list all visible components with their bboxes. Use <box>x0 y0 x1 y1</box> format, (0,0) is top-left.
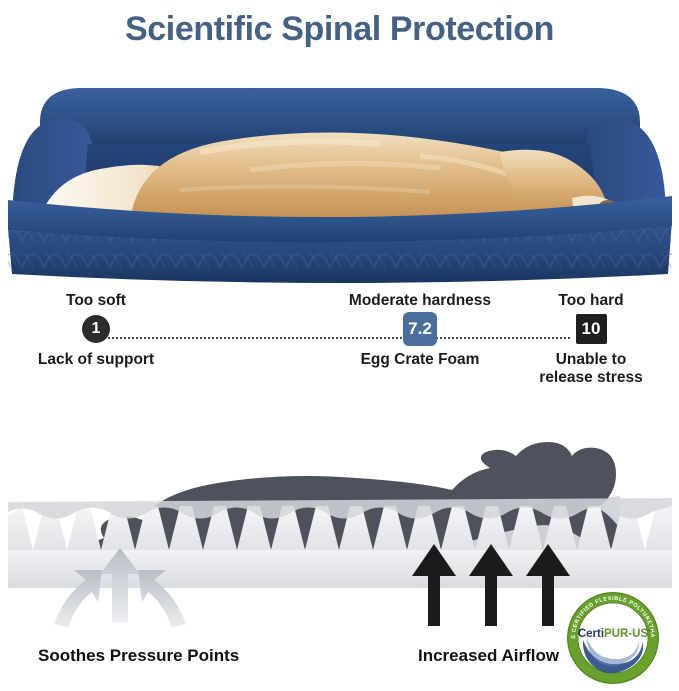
scale-stop-too-hard-bottom-line2: release stress <box>505 369 677 387</box>
scale-stop-too-hard-bottom-line1: Unable to <box>505 351 677 369</box>
svg-text:CertiPUR-US: CertiPUR-US <box>578 628 649 640</box>
caption-increased-airflow: Increased Airflow <box>418 646 559 666</box>
scale-marker-7-2: 7.2 <box>403 312 437 346</box>
hero-product-photo <box>0 60 679 290</box>
scale-stop-too-soft-top-label: Too soft <box>6 292 186 310</box>
caption-soothes-pressure-points: Soothes Pressure Points <box>38 646 239 666</box>
scale-marker-10: 10 <box>576 314 607 344</box>
badge-center-text-certi: Certi <box>578 628 604 640</box>
scale-stop-too-hard-top-label: Too hard <box>505 292 677 310</box>
page-title: Scientific Spinal Protection <box>125 10 554 49</box>
certipur-us-badge: CONTAINS CERTIFIED FLEXIBLE POLYURETHANE… <box>563 588 663 688</box>
dog-bed-illustration <box>0 60 679 290</box>
certipur-us-seal-icon: CONTAINS CERTIFIED FLEXIBLE POLYURETHANE… <box>563 588 663 688</box>
scale-stop-too-soft-marker-row: 1 <box>6 312 186 346</box>
infographic-page: Scientific Spinal Protection <box>0 0 679 691</box>
scale-stop-moderate-top-label: Moderate hardness <box>325 292 515 310</box>
scale-stop-too-soft: Too soft 1 Lack of support <box>6 292 186 369</box>
scale-stop-moderate-marker-row: 7.2 <box>325 312 515 346</box>
scale-stop-too-hard-marker-row: 10 <box>505 312 677 346</box>
badge-registered-mark: ® <box>648 628 651 633</box>
scale-stop-moderate: Moderate hardness 7.2 Egg Crate Foam <box>325 292 515 369</box>
scale-marker-1: 1 <box>82 315 110 343</box>
scale-stop-too-hard: Too hard 10 Unable to release stress <box>505 292 677 387</box>
scale-stop-moderate-bottom-label: Egg Crate Foam <box>325 351 515 369</box>
page-title-bar: Scientific Spinal Protection <box>0 4 679 54</box>
scale-stop-too-hard-bottom-label: Unable to release stress <box>505 351 677 388</box>
scale-stop-too-soft-bottom-label: Lack of support <box>6 351 186 369</box>
firmness-scale: Too soft 1 Lack of support Moderate hard… <box>0 292 679 398</box>
badge-center-text-purus: PUR-US <box>604 628 648 640</box>
airflow-arrows <box>412 544 570 626</box>
